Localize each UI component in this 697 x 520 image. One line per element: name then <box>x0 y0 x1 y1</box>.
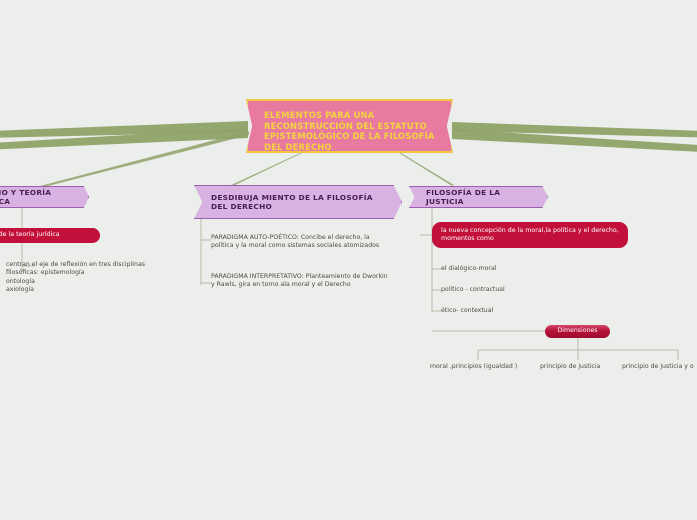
root-node[interactable]: ELEMENTOS PARA UNA RECONSTRUCCIÓN DEL ES… <box>246 99 453 153</box>
edge-root-to-filosofia <box>399 153 454 186</box>
leaf-tres-disciplinas-filosoficas: centran el eje de reflexión en tres disc… <box>6 261 176 294</box>
leaf-moral-principios-igualdad: moral ,principios (igualdad ) <box>430 363 545 371</box>
branch-node-filosofia-justicia-label: FILOSOFÍA DE LA JUSTICIA <box>410 188 547 207</box>
leaf-politico-contractual: político - contractual <box>441 286 551 294</box>
edge-root-to-positivismo <box>40 131 249 188</box>
node-dimensiones[interactable]: Dimensiones <box>545 325 610 338</box>
connector-layer <box>0 0 697 520</box>
node-nueva-concepcion-label: la nueva concepción de la moral,la polít… <box>432 227 628 244</box>
branch-node-desdibujamiento[interactable]: DESDIBUJA MIENTO DE LA FILOSOFÍA DEL DER… <box>194 185 402 219</box>
leaf-principio-de-justicia-y-o: principio de justicia y o <box>622 363 697 371</box>
edge-root-left-lower <box>0 128 248 152</box>
leaf-etico-contextual: ético- contextual <box>441 307 551 315</box>
node-problema-teoria-juridica-label: Problema de la teoría jurídica <box>0 231 69 239</box>
node-dimensiones-label: Dimensiones <box>558 327 598 335</box>
edge-root-to-desdibuja <box>229 153 302 187</box>
branch-node-positivismo-label: TIVISMO Y TEORÍA JURÍDICA <box>0 188 88 207</box>
node-nueva-concepcion[interactable]: la nueva concepción de la moral,la polít… <box>432 222 628 248</box>
leaf-dialogico-moral: el dialógico-moral <box>441 265 551 273</box>
leaf-paradigma-auto-poetico: PARADIGMA AUTO-POÉTICO: Concibe el derec… <box>211 234 391 251</box>
edge-root-right-lower <box>452 129 697 155</box>
root-node-label: ELEMENTOS PARA UNA RECONSTRUCCIÓN DEL ES… <box>264 110 442 152</box>
edge-root-right-upper <box>452 122 697 139</box>
branch-node-filosofia-justicia[interactable]: FILOSOFÍA DE LA JUSTICIA <box>409 186 548 208</box>
node-problema-teoria-juridica[interactable]: Problema de la teoría jurídica <box>0 228 100 243</box>
mindmap-canvas: ELEMENTOS PARA UNA RECONSTRUCCIÓN DEL ES… <box>0 0 697 520</box>
branch-node-positivismo[interactable]: TIVISMO Y TEORÍA JURÍDICA <box>0 186 89 208</box>
branch-node-desdibujamiento-label: DESDIBUJA MIENTO DE LA FILOSOFÍA DEL DER… <box>195 193 401 212</box>
leaf-paradigma-interpretativo: PARADIGMA INTERPRETATIVO: Planteamiento … <box>211 273 389 290</box>
edge-root-left-upper <box>0 121 248 139</box>
leaf-principio-de-justicia: principio de justicia <box>540 363 620 371</box>
